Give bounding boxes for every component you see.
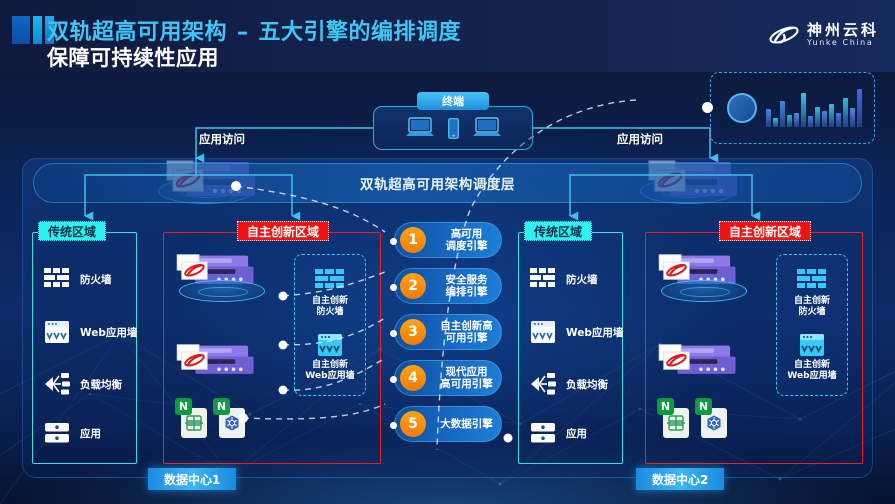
- dc1-sub-firewall: 自主创新 防火墙: [312, 269, 348, 318]
- application-icon: [44, 422, 70, 444]
- dc1-innovation-subbox: 自主创新 防火墙 自主创新 Web应用墙: [294, 254, 366, 396]
- metrics-bar: [808, 116, 813, 127]
- dc2-trad-label-app: 应用: [566, 426, 587, 441]
- engine-label-1: 高可用调度引擎: [432, 228, 501, 252]
- metrics-bar: [843, 98, 848, 127]
- dc1-trad-item-lb: 负载均衡: [44, 372, 122, 396]
- engine-label-line1: 现代应用: [446, 366, 488, 378]
- dc1-trad-item-firewall: 防火墙: [44, 268, 112, 290]
- engine-label-line2: 调度引擎: [446, 240, 488, 252]
- metrics-bar: [850, 108, 855, 127]
- dc2-innovation-badge: 自主创新区域: [719, 221, 811, 241]
- engine-label-2: 安全服务编排引擎: [432, 274, 501, 298]
- metrics-bar: [822, 111, 827, 127]
- brand-text: 神州云科 Yunke China: [807, 23, 879, 48]
- load-balancer-icon: [44, 372, 70, 396]
- dc2-innovation-zone: 自主创新区域 N N: [645, 232, 863, 464]
- dc2-sub-firewall-line1: 自主创新: [794, 296, 830, 306]
- terminal-devices: [373, 106, 533, 150]
- engine-connector-dot: [390, 376, 397, 383]
- load-balancer-icon: [530, 372, 556, 396]
- page-subtitle: 保障可持续性应用: [47, 42, 219, 72]
- waf-icon: [44, 320, 70, 344]
- metrics-bar: [836, 113, 841, 127]
- nginx-icon: N: [175, 398, 192, 415]
- engine-label-4: 现代应用高可用引擎: [432, 366, 501, 390]
- application-icon: [530, 422, 556, 444]
- engine-connector-dot: [390, 238, 397, 245]
- engine-connector-dot: [390, 330, 397, 337]
- brand-logo: 神州云科 Yunke China: [768, 22, 879, 48]
- scheduling-layer-title: 双轨超高可用架构调度层: [360, 173, 515, 193]
- dc2-trad-item-firewall: 防火墙: [530, 268, 598, 290]
- engine-list: 1高可用调度引擎2安全服务编排引擎3自主创新高可用引擎4现代应用高可用引擎5大数…: [394, 222, 502, 452]
- firewall-icon: [44, 268, 70, 290]
- dc1-sub-waf-line1: 自主创新: [312, 360, 348, 370]
- engine-item-3[interactable]: 3自主创新高可用引擎: [394, 314, 502, 350]
- metrics-bar: [829, 104, 834, 127]
- engine-number-1: 1: [400, 227, 426, 253]
- engine-label-5: 大数据引擎: [432, 418, 501, 430]
- dc2-inno-appliance-top: [657, 252, 721, 282]
- dc2-trad-item-waf: Web应用墙: [530, 320, 623, 344]
- brand-name-en: Yunke China: [807, 38, 879, 47]
- bar-chart-icon: [766, 89, 862, 127]
- dc2-trad-item-app: 应用: [530, 422, 587, 444]
- laptop-icon: [472, 117, 502, 139]
- dc2-trad-label-waf: Web应用墙: [566, 325, 623, 340]
- phone-icon: [448, 118, 459, 139]
- nginx-icon: N: [213, 398, 230, 415]
- dc1-trad-label-firewall: 防火墙: [80, 272, 112, 287]
- title-dash: –: [227, 20, 259, 45]
- nginx-icon: N: [695, 398, 712, 415]
- dc2-sub-firewall: 自主创新 防火墙: [794, 269, 830, 318]
- engine-label-line2: 高可用引擎: [440, 378, 493, 390]
- engine-label-line2: 可用引擎: [446, 332, 488, 344]
- firewall-icon: [797, 269, 827, 293]
- waf-icon: [530, 320, 556, 344]
- dc1-sub-waf-line2: Web应用墙: [305, 371, 354, 381]
- dc1-traditional-badge: 传统区域: [38, 221, 106, 241]
- engine-number-3: 3: [400, 319, 426, 345]
- dc2-trad-label-firewall: 防火墙: [566, 272, 598, 287]
- engine-label-line1: 大数据引擎: [440, 418, 493, 430]
- swirl-logo-icon: [768, 22, 800, 48]
- engine-item-1[interactable]: 1高可用调度引擎: [394, 222, 502, 258]
- page-header: 双轨超高可用架构–五大引擎的编排调度 保障可持续性应用 神州云科 Yunke C…: [0, 0, 895, 72]
- access-label-right: 应用访问: [617, 131, 663, 147]
- engine-item-2[interactable]: 2安全服务编排引擎: [394, 268, 502, 304]
- waf-icon: [799, 333, 825, 357]
- dc1-trad-item-app: 应用: [44, 422, 101, 444]
- engine-label-3: 自主创新高可用引擎: [432, 320, 501, 344]
- brand-name-cn: 神州云科: [807, 23, 879, 39]
- dc1-sub-firewall-line1: 自主创新: [312, 296, 348, 306]
- dc2-trad-label-lb: 负载均衡: [566, 377, 608, 392]
- dc2-sub-firewall-line2: 防火墙: [798, 307, 825, 317]
- metrics-bar: [857, 89, 862, 127]
- dc1-innovation-badge: 自主创新区域: [237, 221, 329, 241]
- dc1-traditional-zone: 传统区域 防火墙 Web应用墙 负载均衡: [32, 232, 137, 464]
- dc1-innovation-zone: 自主创新区域 N N: [163, 232, 381, 464]
- title-sub: 五大引擎的编排调度: [259, 20, 462, 45]
- metrics-bar: [815, 107, 820, 127]
- metrics-bar: [794, 113, 799, 127]
- dc2-trad-item-lb: 负载均衡: [530, 372, 608, 396]
- dc1-trad-item-waf: Web应用墙: [44, 320, 137, 344]
- dc1-sub-firewall-line2: 防火墙: [316, 307, 343, 317]
- engine-connector-dot: [390, 422, 397, 429]
- dc2-sub-waf-line1: 自主创新: [794, 360, 830, 370]
- metrics-bar: [787, 115, 792, 127]
- metrics-bar: [780, 101, 785, 127]
- engine-number-4: 4: [400, 365, 426, 391]
- engine-label-line1: 自主创新高: [440, 320, 493, 332]
- firewall-icon: [530, 268, 556, 290]
- engine-label-line1: 高可用: [451, 228, 483, 240]
- dc2-sub-waf-line2: Web应用墙: [787, 371, 836, 381]
- firewall-icon: [315, 269, 345, 293]
- nginx-icon: N: [657, 398, 674, 415]
- dc1-sub-waf: 自主创新 Web应用墙: [305, 333, 354, 382]
- dc2-traditional-zone: 传统区域 防火墙 Web应用墙 负载均衡: [518, 232, 623, 464]
- dc2-inno-platform: [661, 280, 747, 302]
- dc1-trad-label-app: 应用: [80, 426, 101, 441]
- waf-icon: [317, 333, 343, 357]
- dc2-traditional-badge: 传统区域: [524, 221, 592, 241]
- laptop-icon: [405, 117, 435, 139]
- metrics-bar: [801, 93, 806, 127]
- dc1-inno-appliance-bottom: [175, 342, 239, 372]
- dc2-innovation-subbox: 自主创新 防火墙 自主创新 Web应用墙: [776, 254, 848, 396]
- dc2-sub-waf: 自主创新 Web应用墙: [787, 333, 836, 382]
- engine-number-5: 5: [400, 411, 426, 437]
- engine-label-line1: 安全服务: [446, 274, 488, 286]
- metrics-widget: [710, 72, 875, 144]
- engine-number-2: 2: [400, 273, 426, 299]
- metrics-bar: [766, 109, 771, 127]
- dc1-inno-appliance-top: [175, 252, 239, 282]
- engine-connector-dot: [390, 284, 397, 291]
- donut-chart-icon: [727, 93, 757, 123]
- dc2-label: 数据中心2: [636, 468, 724, 490]
- widget-connector-dot: [702, 102, 713, 113]
- engine-label-line2: 编排引擎: [446, 286, 488, 298]
- terminal-label: 终端: [417, 92, 489, 110]
- dc1-trad-label-lb: 负载均衡: [80, 377, 122, 392]
- dc1-trad-label-waf: Web应用墙: [80, 325, 137, 340]
- dc1-label: 数据中心1: [148, 468, 236, 490]
- access-label-left: 应用访问: [199, 131, 245, 147]
- dc1-inno-platform: [179, 280, 265, 302]
- metrics-bar: [773, 118, 778, 127]
- dc2-inno-appliance-bottom: [657, 342, 721, 372]
- engine-item-4[interactable]: 4现代应用高可用引擎: [394, 360, 502, 396]
- engine-item-5[interactable]: 5大数据引擎: [394, 406, 502, 442]
